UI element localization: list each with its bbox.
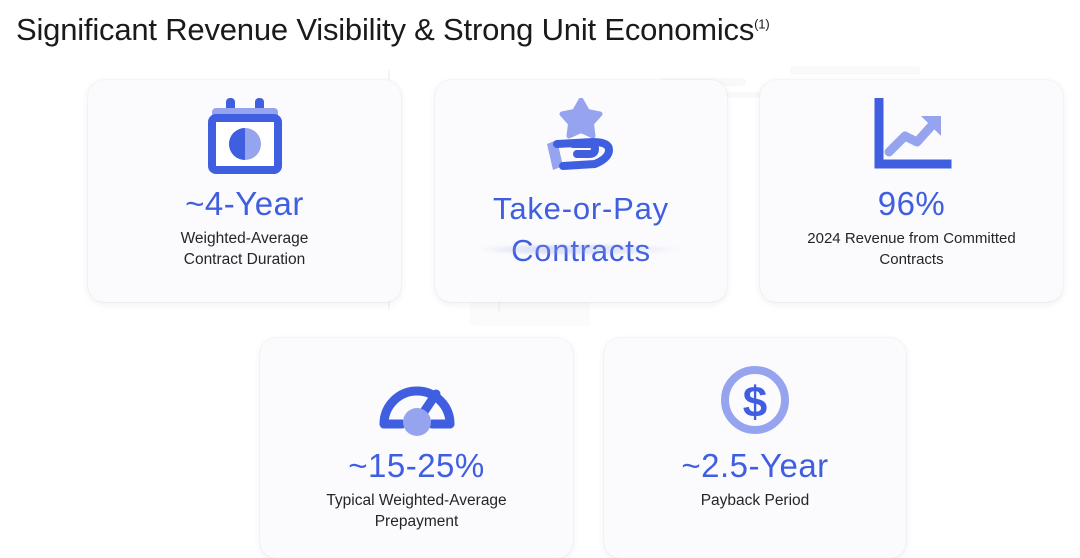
stat-card-contract-duration[interactable]: ~4-Year Weighted-Average Contract Durati… (88, 80, 401, 302)
page-title-text: Significant Revenue Visibility & Strong … (16, 12, 754, 47)
icon-wrap (372, 360, 462, 444)
stat-card-payback-period[interactable]: $ ~2.5-Year Payback Period (604, 338, 906, 558)
stat-value: ~2.5-Year (681, 446, 828, 486)
stat-value: ~15-25% (348, 446, 485, 486)
page-title: Significant Revenue Visibility & Strong … (16, 8, 1056, 52)
transition-smudge-artifact (475, 245, 685, 254)
icon-wrap (869, 94, 955, 182)
icon-wrap: $ (717, 360, 793, 444)
stat-label: Payback Period (689, 490, 822, 511)
title-bar: Significant Revenue Visibility & Strong … (16, 8, 1056, 54)
slide-canvas: Significant Revenue Visibility & Strong … (0, 0, 1080, 558)
stat-value: ~4-Year (185, 184, 304, 224)
growth-chart-icon (869, 98, 955, 179)
stat-label: Typical Weighted-Average Prepayment (314, 490, 518, 532)
hand-holding-star-icon (533, 98, 629, 179)
stat-card-committed-revenue[interactable]: 96% 2024 Revenue from Committed Contract… (760, 80, 1063, 302)
stat-value: 96% (878, 184, 946, 224)
stat-label: 2024 Revenue from Committed Contracts (801, 228, 1021, 270)
gauge-icon (372, 362, 462, 443)
icon-wrap (204, 94, 286, 182)
stat-label: Weighted-Average Contract Duration (169, 228, 321, 270)
stat-value: Take-or-Pay Contracts (435, 188, 727, 272)
icon-wrap (533, 98, 629, 178)
stat-card-take-or-pay[interactable]: Take-or-Pay Contracts (435, 80, 727, 302)
dollar-circle-icon: $ (717, 362, 793, 443)
svg-text:$: $ (743, 378, 767, 427)
stat-card-prepayment[interactable]: ~15-25% Typical Weighted-Average Prepaym… (260, 338, 573, 558)
calendar-icon (204, 96, 286, 181)
footnote-marker: (1) (754, 17, 769, 32)
